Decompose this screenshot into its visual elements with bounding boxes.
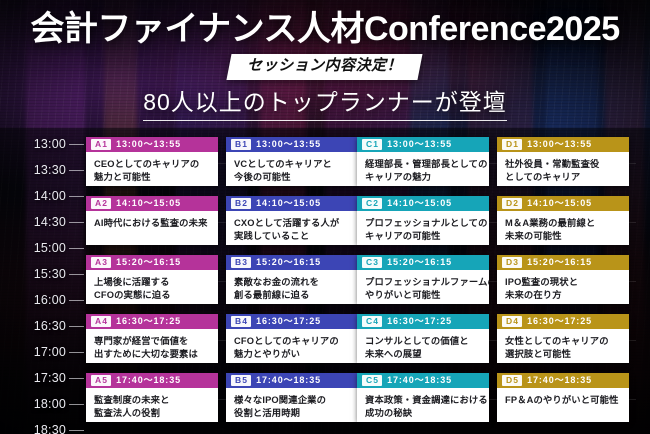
session-code-badge: B2 (231, 198, 251, 209)
time-axis-row: 18:30 (0, 423, 86, 434)
session-card-body: 女性としてのキャリアの選択肢と可能性 (497, 329, 629, 363)
time-axis-label: 13:00 (34, 137, 66, 151)
session-time-range: 13:00〜13:55 (387, 139, 452, 150)
session-card[interactable]: C214:10〜15:05プロフェッショナルとしてのキャリアの可能性 (357, 196, 489, 245)
session-card-header: B517:40〜18:35 (226, 373, 358, 388)
session-card-header: C214:10〜15:05 (357, 196, 489, 211)
session-title-line: 魅力と可能性 (94, 171, 211, 184)
session-card-body: プロフェッショナルファームのやりがいと可能性 (357, 270, 489, 304)
session-card-body: コンサルとしての価値と未来への展望 (357, 329, 489, 363)
session-time-range: 15:20〜16:15 (256, 257, 321, 268)
session-title-line: プロフェッショナルとしての (365, 217, 482, 230)
session-time-range: 17:40〜18:35 (256, 375, 321, 386)
session-code-badge: A5 (91, 375, 111, 386)
session-title-line: FP＆Aのやりがいと可能性 (505, 394, 622, 407)
session-card[interactable]: B517:40〜18:35様々なIPO関連企業の役割と活用時期 (226, 373, 358, 422)
session-card[interactable]: A315:20〜16:15上場後に活躍するCFOの実態に迫る (86, 255, 218, 304)
session-time-range: 14:10〜15:05 (256, 198, 321, 209)
session-card-header: D113:00〜13:55 (497, 137, 629, 152)
subtitle-text: 80人以上のトップランナーが登壇 (143, 88, 507, 121)
session-code-badge: D3 (502, 257, 522, 268)
session-card[interactable]: C113:00〜13:55経理部長・管理部長としてのキャリアの魅力 (357, 137, 489, 186)
session-card[interactable]: D517:40〜18:35FP＆Aのやりがいと可能性 (497, 373, 629, 422)
session-title-line: M＆A業務の最前線と (505, 217, 622, 230)
session-code-badge: D2 (502, 198, 522, 209)
session-card-header: C416:30〜17:25 (357, 314, 489, 329)
page-subtitle: 80人以上のトップランナーが登壇 (0, 88, 650, 121)
time-axis-row: 17:00 (0, 345, 86, 359)
time-axis-label: 14:00 (34, 189, 66, 203)
session-card-body: CFOとしてのキャリアの魅力とやりがい (226, 329, 358, 363)
session-card[interactable]: B214:10〜15:05CXOとして活躍する人が実践していること (226, 196, 358, 245)
session-card-header: D416:30〜17:25 (497, 314, 629, 329)
session-code-badge: B3 (231, 257, 251, 268)
session-code-badge: A4 (91, 316, 111, 327)
time-axis-row: 14:30 (0, 215, 86, 229)
time-axis-tick (69, 430, 84, 431)
time-axis-row: 17:30 (0, 371, 86, 385)
session-card-body: 資本政策・資金調達における成功の秘訣 (357, 388, 489, 422)
session-title-line: 出すために大切な要素は (94, 348, 211, 361)
time-axis-tick (69, 248, 84, 249)
session-title-line: CEOとしてのキャリアの (94, 158, 211, 171)
session-card-header: B416:30〜17:25 (226, 314, 358, 329)
session-card-body: 監査制度の未来と監査法人の役割 (86, 388, 218, 422)
session-title-line: 創る最前線に迫る (234, 289, 351, 302)
time-axis-tick (69, 222, 84, 223)
session-title-line: VCとしてのキャリアと (234, 158, 351, 171)
time-axis: 13:0013:3014:0014:3015:0015:3016:0016:30… (0, 130, 86, 434)
session-card-body: FP＆Aのやりがいと可能性 (497, 388, 629, 412)
session-title-line: プロフェッショナルファームの (365, 276, 482, 289)
session-card-body: AI時代における監査の未来 (86, 211, 218, 235)
time-axis-row: 16:30 (0, 319, 86, 333)
session-card[interactable]: A214:10〜15:05AI時代における監査の未来 (86, 196, 218, 245)
announcement-badge: セッション内容決定！ (0, 54, 650, 80)
session-card-header: B113:00〜13:55 (226, 137, 358, 152)
session-card[interactable]: C416:30〜17:25コンサルとしての価値と未来への展望 (357, 314, 489, 363)
session-title-line: 今後の可能性 (234, 171, 351, 184)
session-card[interactable]: D214:10〜15:05M＆A業務の最前線と未来の可能性 (497, 196, 629, 245)
session-time-range: 13:00〜13:55 (256, 139, 321, 150)
session-title-line: IPO監査の現状と (505, 276, 622, 289)
time-axis-tick (69, 404, 84, 405)
badge-label: セッション内容決定！ (248, 57, 403, 76)
session-time-range: 16:30〜17:25 (527, 316, 592, 327)
session-time-range: 17:40〜18:35 (116, 375, 181, 386)
time-axis-row: 18:00 (0, 397, 86, 411)
session-title-line: AI時代における監査の未来 (94, 217, 211, 230)
session-card-body: 素敵なお金の流れを創る最前線に迫る (226, 270, 358, 304)
time-axis-row: 13:00 (0, 137, 86, 151)
session-title-line: としてのキャリア (505, 171, 622, 184)
session-title-line: CFOとしてのキャリアの (234, 335, 351, 348)
time-axis-label: 15:30 (34, 267, 66, 281)
session-code-badge: D4 (502, 316, 522, 327)
session-card-body: プロフェッショナルとしてのキャリアの可能性 (357, 211, 489, 245)
time-axis-label: 18:30 (34, 423, 66, 434)
conference-schedule-poster: 会計ファイナンス人材Conference2025 セッション内容決定！ 80人以… (0, 0, 650, 434)
session-code-badge: A1 (91, 139, 111, 150)
session-card-body: 社外役員・常勤監査役としてのキャリア (497, 152, 629, 186)
session-code-badge: D5 (502, 375, 522, 386)
session-card-body: 専門家が経営で価値を出すために大切な要素は (86, 329, 218, 363)
session-time-range: 15:20〜16:15 (527, 257, 592, 268)
session-card-body: 上場後に活躍するCFOの実態に迫る (86, 270, 218, 304)
session-card-header: A113:00〜13:55 (86, 137, 218, 152)
time-axis-tick (69, 378, 84, 379)
page-title: 会計ファイナンス人材Conference2025 (0, 12, 650, 46)
time-axis-row: 14:00 (0, 189, 86, 203)
time-axis-tick (69, 196, 84, 197)
time-axis-label: 13:30 (34, 163, 66, 177)
session-title-line: 素敵なお金の流れを (234, 276, 351, 289)
session-card-header: A517:40〜18:35 (86, 373, 218, 388)
session-schedule-grid: 13:0013:3014:0014:3015:0015:3016:0016:30… (0, 130, 650, 434)
session-card[interactable]: D113:00〜13:55社外役員・常勤監査役としてのキャリア (497, 137, 629, 186)
session-card[interactable]: D315:20〜16:15IPO監査の現状と未来の在り方 (497, 255, 629, 304)
time-axis-label: 15:00 (34, 241, 66, 255)
session-card[interactable]: A517:40〜18:35監査制度の未来と監査法人の役割 (86, 373, 218, 422)
time-axis-row: 13:30 (0, 163, 86, 177)
session-title-line: 経理部長・管理部長としての (365, 158, 482, 171)
session-card-body: 様々なIPO関連企業の役割と活用時期 (226, 388, 358, 422)
session-title-line: 役割と活用時期 (234, 407, 351, 420)
session-card-body: VCとしてのキャリアと今後の可能性 (226, 152, 358, 186)
session-title-line: 資本政策・資金調達における (365, 394, 482, 407)
session-card[interactable]: A416:30〜17:25専門家が経営で価値を出すために大切な要素は (86, 314, 218, 363)
time-axis-row: 15:00 (0, 241, 86, 255)
session-title-line: 未来の在り方 (505, 289, 622, 302)
session-code-badge: B4 (231, 316, 251, 327)
session-title-line: 社外役員・常勤監査役 (505, 158, 622, 171)
session-code-badge: C3 (362, 257, 382, 268)
session-title-line: 女性としてのキャリアの (505, 335, 622, 348)
session-title-line: 上場後に活躍する (94, 276, 211, 289)
time-axis-tick (69, 300, 84, 301)
session-time-range: 15:20〜16:15 (116, 257, 181, 268)
session-time-range: 17:40〜18:35 (527, 375, 592, 386)
session-title-line: CFOの実態に迫る (94, 289, 211, 302)
session-card[interactable]: A113:00〜13:55CEOとしてのキャリアの魅力と可能性 (86, 137, 218, 186)
session-title-line: キャリアの可能性 (365, 230, 482, 243)
session-card-header: C517:40〜18:35 (357, 373, 489, 388)
session-title-line: 魅力とやりがい (234, 348, 351, 361)
session-card-header: C315:20〜16:15 (357, 255, 489, 270)
time-axis-tick (69, 326, 84, 327)
session-title-line: 監査法人の役割 (94, 407, 211, 420)
session-time-range: 16:30〜17:25 (256, 316, 321, 327)
session-card-body: IPO監査の現状と未来の在り方 (497, 270, 629, 304)
session-title-line: 未来への展望 (365, 348, 482, 361)
session-code-badge: C1 (362, 139, 382, 150)
badge-shape: セッション内容決定！ (227, 54, 423, 80)
session-card-header: D517:40〜18:35 (497, 373, 629, 388)
time-axis-label: 18:00 (34, 397, 66, 411)
session-card[interactable]: D416:30〜17:25女性としてのキャリアの選択肢と可能性 (497, 314, 629, 363)
poster-header: 会計ファイナンス人材Conference2025 セッション内容決定！ 80人以… (0, 0, 650, 130)
session-title-line: 成功の秘訣 (365, 407, 482, 420)
session-code-badge: B1 (231, 139, 251, 150)
session-time-range: 14:10〜15:05 (527, 198, 592, 209)
session-card-header: A315:20〜16:15 (86, 255, 218, 270)
session-title-line: 選択肢と可能性 (505, 348, 622, 361)
session-card-header: B315:20〜16:15 (226, 255, 358, 270)
session-card[interactable]: B113:00〜13:55VCとしてのキャリアと今後の可能性 (226, 137, 358, 186)
session-title-line: 専門家が経営で価値を (94, 335, 211, 348)
session-card-header: D315:20〜16:15 (497, 255, 629, 270)
time-axis-label: 17:30 (34, 371, 66, 385)
session-time-range: 15:20〜16:15 (387, 257, 452, 268)
session-card-body: 経理部長・管理部長としてのキャリアの魅力 (357, 152, 489, 186)
session-card-body: M＆A業務の最前線と未来の可能性 (497, 211, 629, 245)
session-card[interactable]: C517:40〜18:35資本政策・資金調達における成功の秘訣 (357, 373, 489, 422)
session-time-range: 17:40〜18:35 (387, 375, 452, 386)
session-title-line: 未来の可能性 (505, 230, 622, 243)
session-card-body: CXOとして活躍する人が実践していること (226, 211, 358, 245)
session-time-range: 16:30〜17:25 (116, 316, 181, 327)
time-axis-label: 17:00 (34, 345, 66, 359)
session-title-line: 実践していること (234, 230, 351, 243)
session-title-line: やりがいと可能性 (365, 289, 482, 302)
session-code-badge: C2 (362, 198, 382, 209)
session-title-line: 監査制度の未来と (94, 394, 211, 407)
session-card-header: A416:30〜17:25 (86, 314, 218, 329)
session-time-range: 14:10〜15:05 (387, 198, 452, 209)
session-code-badge: B5 (231, 375, 251, 386)
session-title-line: キャリアの魅力 (365, 171, 482, 184)
session-time-range: 13:00〜13:55 (527, 139, 592, 150)
time-axis-row: 16:00 (0, 293, 86, 307)
session-title-line: コンサルとしての価値と (365, 335, 482, 348)
session-code-badge: D1 (502, 139, 522, 150)
time-axis-label: 16:00 (34, 293, 66, 307)
session-title-line: CXOとして活躍する人が (234, 217, 351, 230)
time-axis-tick (69, 352, 84, 353)
session-card[interactable]: C315:20〜16:15プロフェッショナルファームのやりがいと可能性 (357, 255, 489, 304)
session-code-badge: A2 (91, 198, 111, 209)
session-card-body: CEOとしてのキャリアの魅力と可能性 (86, 152, 218, 186)
session-code-badge: A3 (91, 257, 111, 268)
session-time-range: 16:30〜17:25 (387, 316, 452, 327)
session-card-header: D214:10〜15:05 (497, 196, 629, 211)
time-axis-tick (69, 274, 84, 275)
session-card-header: A214:10〜15:05 (86, 196, 218, 211)
time-axis-label: 16:30 (34, 319, 66, 333)
time-axis-label: 14:30 (34, 215, 66, 229)
session-code-badge: C5 (362, 375, 382, 386)
session-card-header: C113:00〜13:55 (357, 137, 489, 152)
session-time-range: 13:00〜13:55 (116, 139, 181, 150)
time-axis-row: 15:30 (0, 267, 86, 281)
session-code-badge: C4 (362, 316, 382, 327)
session-title-line: 様々なIPO関連企業の (234, 394, 351, 407)
time-axis-tick (69, 144, 84, 145)
session-card[interactable]: B416:30〜17:25CFOとしてのキャリアの魅力とやりがい (226, 314, 358, 363)
session-card-header: B214:10〜15:05 (226, 196, 358, 211)
session-card[interactable]: B315:20〜16:15素敵なお金の流れを創る最前線に迫る (226, 255, 358, 304)
session-time-range: 14:10〜15:05 (116, 198, 181, 209)
time-axis-tick (69, 170, 84, 171)
